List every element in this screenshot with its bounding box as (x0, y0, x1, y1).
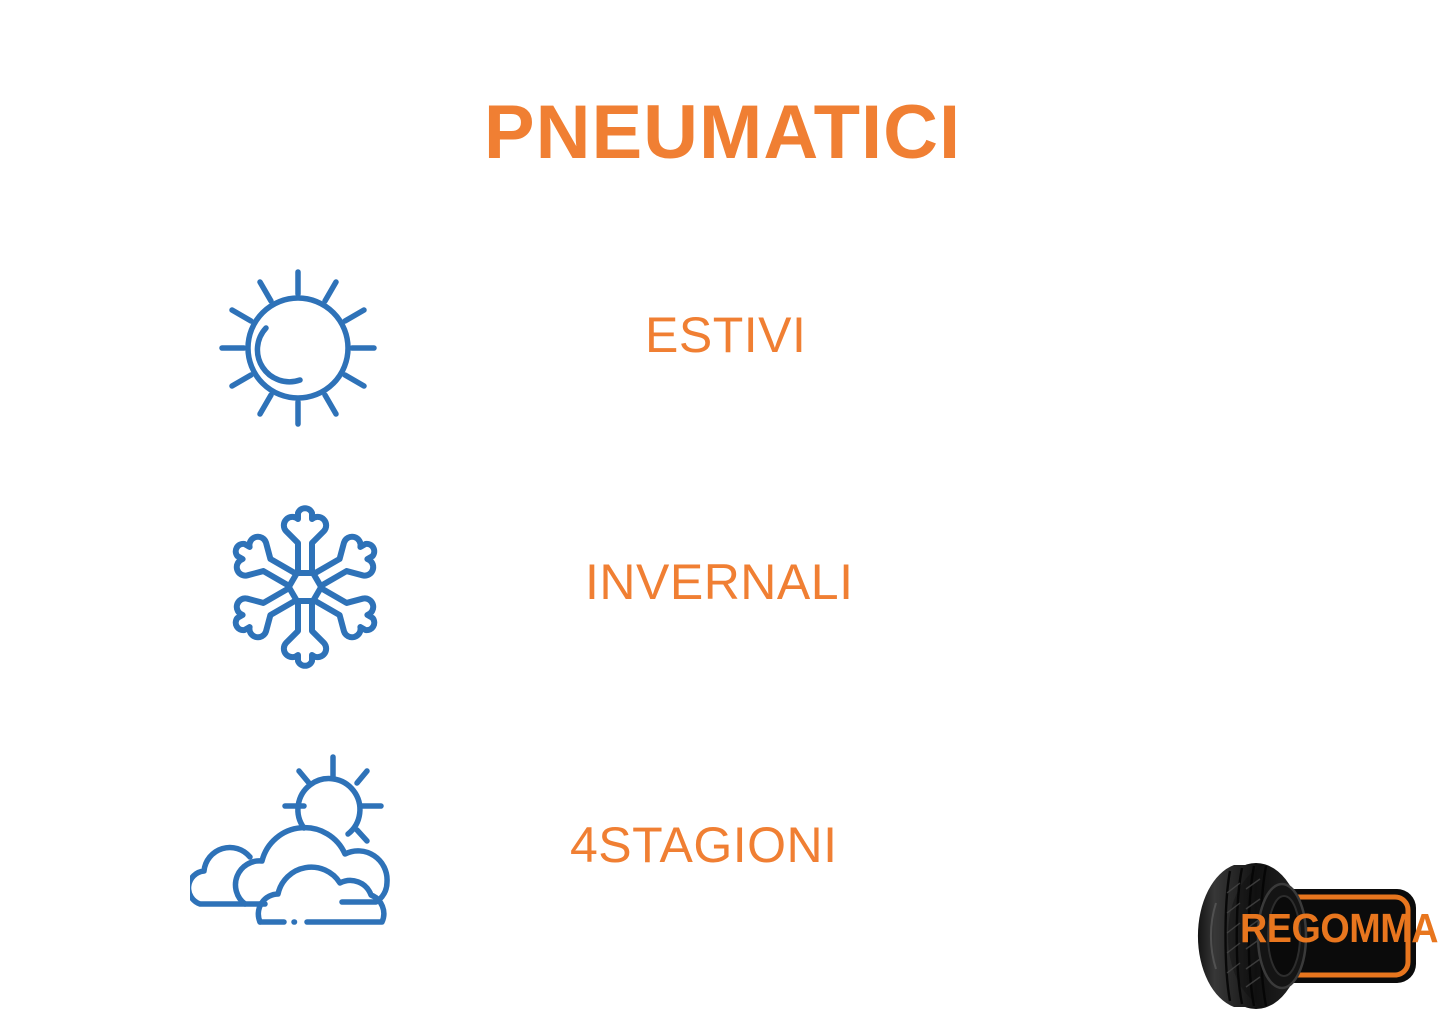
poster-canvas: PNEUMATICI (0, 0, 1445, 1022)
sun-behind-clouds-icon (190, 750, 410, 945)
regomma-logo[interactable]: REGOMMA (1194, 853, 1430, 1016)
list-item[interactable]: INVERNALI (0, 495, 1445, 695)
page-title: PNEUMATICI (0, 95, 1445, 171)
list-item[interactable]: ESTIVI (0, 250, 1445, 450)
sun-icon (190, 250, 410, 445)
list-item-label-4stagioni: 4STAGIONI (570, 820, 838, 870)
snowflake-icon (190, 495, 410, 690)
list-item-label-estivi: ESTIVI (645, 310, 806, 360)
list-item-label-invernali: INVERNALI (585, 557, 853, 607)
